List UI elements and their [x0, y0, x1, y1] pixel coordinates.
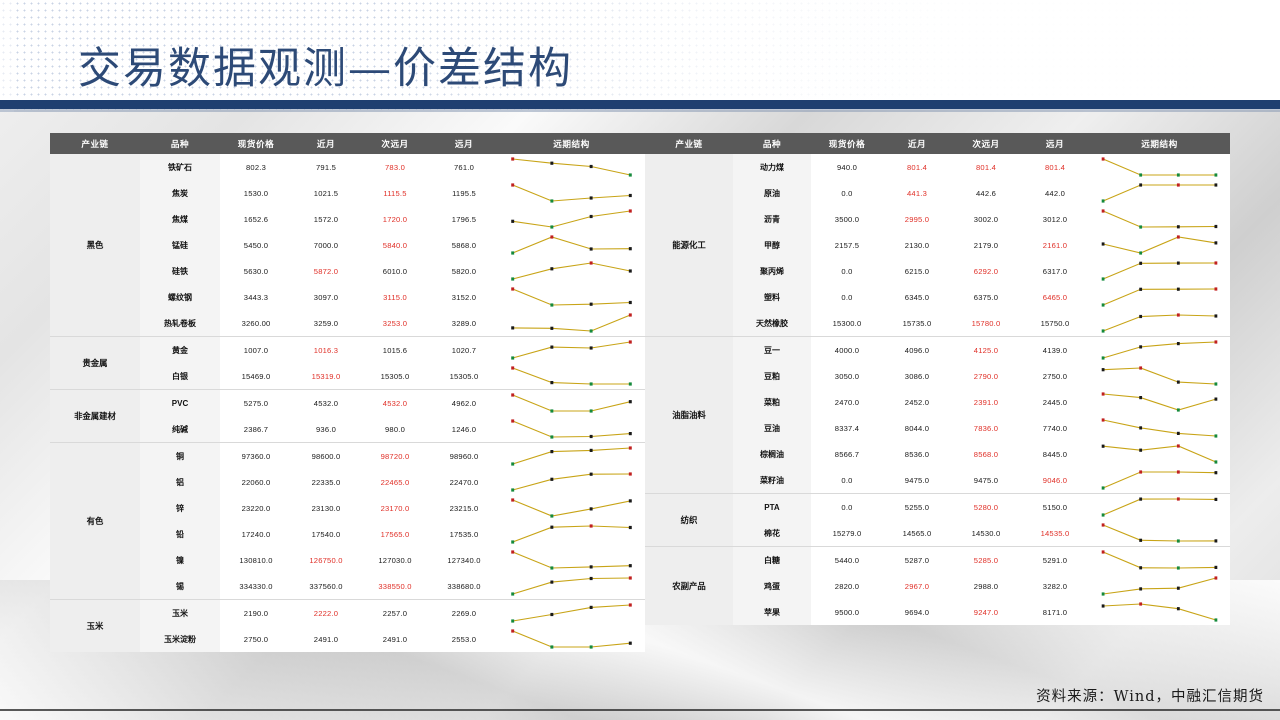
table-row[interactable]: 黑色铁矿石802.3791.5783.0761.0 [50, 154, 645, 180]
price-structure-table-left[interactable]: 产业链 品种 现货价格 近月 次远月 远月 远期结构 黑色铁矿石802.3791… [50, 133, 645, 652]
spot-price-cell: 8566.7 [811, 441, 883, 467]
mid-price-cell: 338550.0 [360, 573, 430, 600]
table-row[interactable]: 锡334330.0337560.0338550.0338680.0 [50, 573, 645, 600]
col-header-variety: 品种 [733, 133, 811, 154]
mid-price-cell: 8568.0 [951, 441, 1021, 467]
far-price-cell: 17535.0 [430, 521, 498, 547]
forward-curve-sparkline [1089, 599, 1230, 625]
title-underline [0, 100, 1280, 109]
variety-cell: 白糖 [733, 547, 811, 574]
variety-cell: 铅 [140, 521, 220, 547]
chain-cell: 非金属建材 [50, 390, 140, 443]
col-header-far-month: 远月 [430, 133, 498, 154]
near-price-cell: 2452.0 [883, 389, 951, 415]
forward-curve-sparkline [1089, 389, 1230, 415]
chain-cell: 纺织 [645, 494, 733, 547]
mid-price-cell: 127030.0 [360, 547, 430, 573]
variety-cell: 豆油 [733, 415, 811, 441]
near-price-cell: 3097.0 [292, 284, 360, 310]
near-price-cell: 2222.0 [292, 600, 360, 627]
forward-curve-sparkline [498, 258, 645, 284]
col-header-spot-price: 现货价格 [220, 133, 292, 154]
spot-price-cell: 2157.5 [811, 232, 883, 258]
forward-curve-sparkline [1089, 310, 1230, 337]
near-price-cell: 5872.0 [292, 258, 360, 284]
table-row[interactable]: 能源化工动力煤940.0801.4801.4801.4 [645, 154, 1230, 180]
far-price-cell: 4139.0 [1021, 337, 1089, 364]
col-header-chain: 产业链 [50, 133, 140, 154]
spot-price-cell: 802.3 [220, 154, 292, 180]
forward-curve-sparkline [1089, 258, 1230, 284]
spot-price-cell: 5450.0 [220, 232, 292, 258]
near-price-cell: 3259.0 [292, 310, 360, 337]
col-header-forward-curve: 远期结构 [498, 133, 645, 154]
forward-curve-sparkline [498, 206, 645, 232]
forward-curve-sparkline [1089, 415, 1230, 441]
variety-cell: 热轧卷板 [140, 310, 220, 337]
spot-price-cell: 8337.4 [811, 415, 883, 441]
spot-price-cell: 1530.0 [220, 180, 292, 206]
spot-price-cell: 2386.7 [220, 416, 292, 443]
table-row[interactable]: 豆油8337.48044.07836.07740.0 [645, 415, 1230, 441]
page-title: 交易数据观测—价差结构 [78, 34, 573, 96]
near-price-cell: 6215.0 [883, 258, 951, 284]
forward-curve-sparkline [1089, 180, 1230, 206]
variety-cell: 焦煤 [140, 206, 220, 232]
table-left-header: 产业链 品种 现货价格 近月 次远月 远月 远期结构 [50, 133, 645, 154]
mid-price-cell: 23170.0 [360, 495, 430, 521]
table-row[interactable]: 非金属建材PVC5275.04532.04532.04962.0 [50, 390, 645, 417]
near-price-cell: 791.5 [292, 154, 360, 180]
table-row[interactable]: 农副产品白糖5440.05287.05285.05291.0 [645, 547, 1230, 574]
near-price-cell: 2491.0 [292, 626, 360, 652]
title-underline-secondary [0, 109, 1280, 112]
near-price-cell: 1016.3 [292, 337, 360, 364]
table-row[interactable]: 棉花15279.014565.014530.014535.0 [645, 520, 1230, 547]
variety-cell: 铜 [140, 443, 220, 470]
variety-cell: 玉米 [140, 600, 220, 627]
variety-cell: 锰硅 [140, 232, 220, 258]
mid-price-cell: 801.4 [951, 154, 1021, 180]
forward-curve-sparkline [1089, 520, 1230, 547]
spot-price-cell: 0.0 [811, 258, 883, 284]
spot-price-cell: 1007.0 [220, 337, 292, 364]
far-price-cell: 801.4 [1021, 154, 1089, 180]
near-price-cell: 7000.0 [292, 232, 360, 258]
col-header-forward-curve: 远期结构 [1089, 133, 1230, 154]
variety-cell: 锡 [140, 573, 220, 600]
chain-cell: 黑色 [50, 154, 140, 337]
variety-cell: 豆一 [733, 337, 811, 364]
mid-price-cell: 5840.0 [360, 232, 430, 258]
forward-curve-sparkline [498, 626, 645, 652]
spot-price-cell: 0.0 [811, 494, 883, 521]
chain-cell: 有色 [50, 443, 140, 600]
far-price-cell: 23215.0 [430, 495, 498, 521]
forward-curve-sparkline [498, 337, 645, 364]
table-row[interactable]: 甲醇2157.52130.02179.02161.0 [645, 232, 1230, 258]
price-structure-table-right[interactable]: 产业链 品种 现货价格 近月 次远月 远月 远期结构 能源化工动力煤940.08… [645, 133, 1230, 625]
near-price-cell: 9475.0 [883, 467, 951, 494]
spot-price-cell: 3260.00 [220, 310, 292, 337]
near-price-cell: 22335.0 [292, 469, 360, 495]
variety-cell: 甲醇 [733, 232, 811, 258]
mid-price-cell: 3115.0 [360, 284, 430, 310]
variety-cell: 棕榈油 [733, 441, 811, 467]
variety-cell: 镍 [140, 547, 220, 573]
spot-price-cell: 22060.0 [220, 469, 292, 495]
near-price-cell: 2130.0 [883, 232, 951, 258]
spot-price-cell: 5630.0 [220, 258, 292, 284]
far-price-cell: 6465.0 [1021, 284, 1089, 310]
forward-curve-sparkline [498, 232, 645, 258]
table-row[interactable]: 聚丙烯0.06215.06292.06317.0 [645, 258, 1230, 284]
header-row: 产业链 品种 现货价格 近月 次远月 远月 远期结构 [645, 133, 1230, 154]
near-price-cell: 126750.0 [292, 547, 360, 573]
variety-cell: PVC [140, 390, 220, 417]
forward-curve-sparkline [498, 600, 645, 627]
near-price-cell: 23130.0 [292, 495, 360, 521]
forward-curve-sparkline [498, 573, 645, 600]
variety-cell: 沥青 [733, 206, 811, 232]
header-row: 产业链 品种 现货价格 近月 次远月 远月 远期结构 [50, 133, 645, 154]
table-row[interactable]: 焦炭1530.01021.51115.51195.5 [50, 180, 645, 206]
table-row[interactable]: 镍130810.0126750.0127030.0127340.0 [50, 547, 645, 573]
variety-cell: 白银 [140, 363, 220, 390]
mid-price-cell: 9247.0 [951, 599, 1021, 625]
near-price-cell: 5287.0 [883, 547, 951, 574]
far-price-cell: 3012.0 [1021, 206, 1089, 232]
spot-price-cell: 15469.0 [220, 363, 292, 390]
spot-price-cell: 97360.0 [220, 443, 292, 470]
table-row[interactable]: 沥青3500.02995.03002.03012.0 [645, 206, 1230, 232]
mid-price-cell: 5280.0 [951, 494, 1021, 521]
variety-cell: 纯碱 [140, 416, 220, 443]
near-price-cell: 98600.0 [292, 443, 360, 470]
mid-price-cell: 4532.0 [360, 390, 430, 417]
mid-price-cell: 15780.0 [951, 310, 1021, 337]
far-price-cell: 442.0 [1021, 180, 1089, 206]
forward-curve-sparkline [1089, 337, 1230, 364]
col-header-mid-far-month: 次远月 [360, 133, 430, 154]
spot-price-cell: 15300.0 [811, 310, 883, 337]
variety-cell: 锌 [140, 495, 220, 521]
far-price-cell: 4962.0 [430, 390, 498, 417]
variety-cell: 鸡蛋 [733, 573, 811, 599]
source-note: 资料来源：Wind，中融汇信期货 [1036, 685, 1264, 706]
forward-curve-sparkline [498, 521, 645, 547]
near-price-cell: 801.4 [883, 154, 951, 180]
col-header-far-month: 远月 [1021, 133, 1089, 154]
near-price-cell: 337560.0 [292, 573, 360, 600]
mid-price-cell: 2179.0 [951, 232, 1021, 258]
forward-curve-sparkline [1089, 494, 1230, 521]
chain-cell: 玉米 [50, 600, 140, 653]
far-price-cell: 2553.0 [430, 626, 498, 652]
mid-price-cell: 6292.0 [951, 258, 1021, 284]
table-row[interactable]: 豆粕3050.03086.02790.02750.0 [645, 363, 1230, 389]
forward-curve-sparkline [498, 284, 645, 310]
table-row[interactable]: 硅铁5630.05872.06010.05820.0 [50, 258, 645, 284]
far-price-cell: 1020.7 [430, 337, 498, 364]
spot-price-cell: 2820.0 [811, 573, 883, 599]
spot-price-cell: 2750.0 [220, 626, 292, 652]
variety-cell: 铝 [140, 469, 220, 495]
table-right-body: 能源化工动力煤940.0801.4801.4801.4原油0.0441.3442… [645, 154, 1230, 625]
near-price-cell: 936.0 [292, 416, 360, 443]
table-row[interactable]: 铅17240.017540.017565.017535.0 [50, 521, 645, 547]
mid-price-cell: 2988.0 [951, 573, 1021, 599]
far-price-cell: 2161.0 [1021, 232, 1089, 258]
far-price-cell: 15305.0 [430, 363, 498, 390]
table-row[interactable]: 玉米淀粉2750.02491.02491.02553.0 [50, 626, 645, 652]
spot-price-cell: 0.0 [811, 284, 883, 310]
spot-price-cell: 2470.0 [811, 389, 883, 415]
mid-price-cell: 783.0 [360, 154, 430, 180]
col-header-spot-price: 现货价格 [811, 133, 883, 154]
table-row[interactable]: 锌23220.023130.023170.023215.0 [50, 495, 645, 521]
near-price-cell: 4096.0 [883, 337, 951, 364]
table-row[interactable]: 有色铜97360.098600.098720.098960.0 [50, 443, 645, 470]
forward-curve-sparkline [498, 154, 645, 180]
table-row[interactable]: 纺织PTA0.05255.05280.05150.0 [645, 494, 1230, 521]
forward-curve-sparkline [1089, 363, 1230, 389]
footer-rule [0, 709, 1280, 711]
far-price-cell: 3152.0 [430, 284, 498, 310]
mid-price-cell: 6010.0 [360, 258, 430, 284]
near-price-cell: 2967.0 [883, 573, 951, 599]
col-header-near-month: 近月 [292, 133, 360, 154]
variety-cell: 动力煤 [733, 154, 811, 180]
far-price-cell: 98960.0 [430, 443, 498, 470]
mid-price-cell: 98720.0 [360, 443, 430, 470]
spot-price-cell: 0.0 [811, 467, 883, 494]
variety-cell: 硅铁 [140, 258, 220, 284]
mid-price-cell: 3002.0 [951, 206, 1021, 232]
near-price-cell: 441.3 [883, 180, 951, 206]
table-row[interactable]: 苹果9500.09694.09247.08171.0 [645, 599, 1230, 625]
forward-curve-sparkline [1089, 573, 1230, 599]
variety-cell: 焦炭 [140, 180, 220, 206]
mid-price-cell: 3253.0 [360, 310, 430, 337]
near-price-cell: 1572.0 [292, 206, 360, 232]
table-row[interactable]: 鸡蛋2820.02967.02988.03282.0 [645, 573, 1230, 599]
spot-price-cell: 15279.0 [811, 520, 883, 547]
spot-price-cell: 9500.0 [811, 599, 883, 625]
near-price-cell: 3086.0 [883, 363, 951, 389]
variety-cell: 黄金 [140, 337, 220, 364]
forward-curve-sparkline [498, 443, 645, 470]
far-price-cell: 1195.5 [430, 180, 498, 206]
mid-price-cell: 17565.0 [360, 521, 430, 547]
forward-curve-sparkline [1089, 206, 1230, 232]
spot-price-cell: 3050.0 [811, 363, 883, 389]
near-price-cell: 9694.0 [883, 599, 951, 625]
far-price-cell: 338680.0 [430, 573, 498, 600]
variety-cell: 螺纹钢 [140, 284, 220, 310]
mid-price-cell: 1015.6 [360, 337, 430, 364]
far-price-cell: 1246.0 [430, 416, 498, 443]
forward-curve-sparkline [1089, 154, 1230, 180]
far-price-cell: 761.0 [430, 154, 498, 180]
table-row[interactable]: 铝22060.022335.022465.022470.0 [50, 469, 645, 495]
near-price-cell: 8536.0 [883, 441, 951, 467]
table-row[interactable]: 纯碱2386.7936.0980.01246.0 [50, 416, 645, 443]
far-price-cell: 3289.0 [430, 310, 498, 337]
forward-curve-sparkline [498, 469, 645, 495]
mid-price-cell: 2391.0 [951, 389, 1021, 415]
forward-curve-sparkline [498, 416, 645, 443]
spot-price-cell: 0.0 [811, 180, 883, 206]
table-row[interactable]: 棕榈油8566.78536.08568.08445.0 [645, 441, 1230, 467]
far-price-cell: 14535.0 [1021, 520, 1089, 547]
near-price-cell: 6345.0 [883, 284, 951, 310]
variety-cell: 苹果 [733, 599, 811, 625]
table-row[interactable]: 贵金属黄金1007.01016.31015.61020.7 [50, 337, 645, 364]
far-price-cell: 2445.0 [1021, 389, 1089, 415]
mid-price-cell: 4125.0 [951, 337, 1021, 364]
table-row[interactable]: 焦煤1652.61572.01720.01796.5 [50, 206, 645, 232]
far-price-cell: 5868.0 [430, 232, 498, 258]
mid-price-cell: 6375.0 [951, 284, 1021, 310]
variety-cell: 聚丙烯 [733, 258, 811, 284]
forward-curve-sparkline [1089, 467, 1230, 494]
far-price-cell: 6317.0 [1021, 258, 1089, 284]
table-row[interactable]: 菜籽油0.09475.09475.09046.0 [645, 467, 1230, 494]
forward-curve-sparkline [498, 363, 645, 390]
spot-price-cell: 940.0 [811, 154, 883, 180]
table-row[interactable]: 玉米玉米2190.02222.02257.02269.0 [50, 600, 645, 627]
variety-cell: 天然橡胶 [733, 310, 811, 337]
near-price-cell: 2995.0 [883, 206, 951, 232]
table-row[interactable]: 热轧卷板3260.003259.03253.03289.0 [50, 310, 645, 337]
far-price-cell: 5820.0 [430, 258, 498, 284]
spot-price-cell: 23220.0 [220, 495, 292, 521]
spot-price-cell: 1652.6 [220, 206, 292, 232]
mid-price-cell: 9475.0 [951, 467, 1021, 494]
table-row[interactable]: 锰硅5450.07000.05840.05868.0 [50, 232, 645, 258]
spot-price-cell: 334330.0 [220, 573, 292, 600]
mid-price-cell: 2790.0 [951, 363, 1021, 389]
table-left-body: 黑色铁矿石802.3791.5783.0761.0焦炭1530.01021.51… [50, 154, 645, 652]
spot-price-cell: 5275.0 [220, 390, 292, 417]
col-header-chain: 产业链 [645, 133, 733, 154]
far-price-cell: 3282.0 [1021, 573, 1089, 599]
table-row[interactable]: 螺纹钢3443.33097.03115.03152.0 [50, 284, 645, 310]
forward-curve-sparkline [1089, 232, 1230, 258]
far-price-cell: 8445.0 [1021, 441, 1089, 467]
chain-cell: 能源化工 [645, 154, 733, 337]
near-price-cell: 17540.0 [292, 521, 360, 547]
variety-cell: 豆粕 [733, 363, 811, 389]
table-row[interactable]: 天然橡胶15300.015735.015780.015750.0 [645, 310, 1230, 337]
mid-price-cell: 442.6 [951, 180, 1021, 206]
spot-price-cell: 2190.0 [220, 600, 292, 627]
far-price-cell: 2269.0 [430, 600, 498, 627]
slide-background: 交易数据观测—价差结构 产业链 品种 现货价格 近月 次远月 远月 远期结构 黑… [0, 0, 1280, 720]
mid-price-cell: 22465.0 [360, 469, 430, 495]
variety-cell: 棉花 [733, 520, 811, 547]
variety-cell: 菜粕 [733, 389, 811, 415]
spot-price-cell: 3443.3 [220, 284, 292, 310]
forward-curve-sparkline [498, 547, 645, 573]
near-price-cell: 14565.0 [883, 520, 951, 547]
mid-price-cell: 1720.0 [360, 206, 430, 232]
near-price-cell: 15319.0 [292, 363, 360, 390]
variety-cell: 铁矿石 [140, 154, 220, 180]
variety-cell: PTA [733, 494, 811, 521]
variety-cell: 塑料 [733, 284, 811, 310]
col-header-near-month: 近月 [883, 133, 951, 154]
variety-cell: 菜籽油 [733, 467, 811, 494]
mid-price-cell: 2257.0 [360, 600, 430, 627]
far-price-cell: 8171.0 [1021, 599, 1089, 625]
col-header-mid-far-month: 次远月 [951, 133, 1021, 154]
variety-cell: 原油 [733, 180, 811, 206]
near-price-cell: 5255.0 [883, 494, 951, 521]
spot-price-cell: 5440.0 [811, 547, 883, 574]
table-right-header: 产业链 品种 现货价格 近月 次远月 远月 远期结构 [645, 133, 1230, 154]
forward-curve-sparkline [498, 390, 645, 417]
mid-price-cell: 5285.0 [951, 547, 1021, 574]
table-row[interactable]: 塑料0.06345.06375.06465.0 [645, 284, 1230, 310]
mid-price-cell: 2491.0 [360, 626, 430, 652]
table-row[interactable]: 白银15469.015319.015305.015305.0 [50, 363, 645, 390]
far-price-cell: 7740.0 [1021, 415, 1089, 441]
spot-price-cell: 4000.0 [811, 337, 883, 364]
mid-price-cell: 1115.5 [360, 180, 430, 206]
mid-price-cell: 980.0 [360, 416, 430, 443]
far-price-cell: 5150.0 [1021, 494, 1089, 521]
table-row[interactable]: 油脂油料豆一4000.04096.04125.04139.0 [645, 337, 1230, 364]
forward-curve-sparkline [498, 310, 645, 337]
forward-curve-sparkline [1089, 547, 1230, 574]
chain-cell: 贵金属 [50, 337, 140, 390]
mid-price-cell: 7836.0 [951, 415, 1021, 441]
far-price-cell: 9046.0 [1021, 467, 1089, 494]
spot-price-cell: 130810.0 [220, 547, 292, 573]
table-row[interactable]: 原油0.0441.3442.6442.0 [645, 180, 1230, 206]
far-price-cell: 15750.0 [1021, 310, 1089, 337]
spot-price-cell: 17240.0 [220, 521, 292, 547]
forward-curve-sparkline [498, 180, 645, 206]
near-price-cell: 1021.5 [292, 180, 360, 206]
far-price-cell: 1796.5 [430, 206, 498, 232]
variety-cell: 玉米淀粉 [140, 626, 220, 652]
title-left-notch [0, 0, 14, 112]
far-price-cell: 2750.0 [1021, 363, 1089, 389]
spot-price-cell: 3500.0 [811, 206, 883, 232]
near-price-cell: 15735.0 [883, 310, 951, 337]
chain-cell: 农副产品 [645, 547, 733, 626]
far-price-cell: 22470.0 [430, 469, 498, 495]
table-row[interactable]: 菜粕2470.02452.02391.02445.0 [645, 389, 1230, 415]
chain-cell: 油脂油料 [645, 337, 733, 494]
col-header-variety: 品种 [140, 133, 220, 154]
far-price-cell: 5291.0 [1021, 547, 1089, 574]
forward-curve-sparkline [1089, 441, 1230, 467]
mid-price-cell: 15305.0 [360, 363, 430, 390]
near-price-cell: 4532.0 [292, 390, 360, 417]
near-price-cell: 8044.0 [883, 415, 951, 441]
mid-price-cell: 14530.0 [951, 520, 1021, 547]
far-price-cell: 127340.0 [430, 547, 498, 573]
forward-curve-sparkline [1089, 284, 1230, 310]
forward-curve-sparkline [498, 495, 645, 521]
